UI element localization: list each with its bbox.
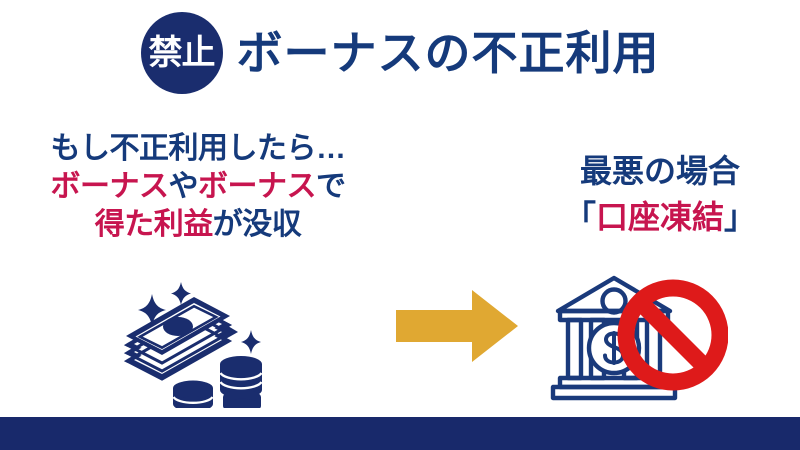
left-line-3: 得た利益が没収: [8, 206, 388, 244]
left-line-2-part-3: ボーナス: [198, 170, 316, 203]
right-line-2-close-bracket: 」: [724, 199, 756, 235]
left-line-3-part-2: が没収: [213, 208, 302, 241]
left-line-1: もし不正利用したら…: [8, 130, 388, 168]
left-line-2-part-2: や: [169, 170, 199, 203]
left-line-3-part-1: 得た利益: [95, 208, 213, 241]
footer-bar: [0, 417, 800, 450]
bank-prohibition-icon: [548, 273, 728, 403]
prohibition-sign-glyph: [626, 288, 720, 382]
cash-stack-icon: [118, 278, 303, 408]
right-arrow-icon: [396, 290, 518, 362]
left-line-2: ボーナスやボーナスで: [8, 168, 388, 206]
right-line-2-keyword: 口座凍結: [596, 199, 724, 235]
slide-canvas: 禁止 ボーナスの不正利用 もし不正利用したら… ボーナスやボーナスで 得た利益が…: [0, 0, 800, 450]
left-line-2-part-1: ボーナス: [51, 170, 169, 203]
prohibition-badge: 禁止: [141, 12, 223, 94]
prohibition-badge-label: 禁止: [149, 36, 215, 70]
right-line-1: 最悪の場合: [520, 148, 800, 194]
right-line-2-open-bracket: 「: [564, 199, 596, 235]
left-text-block: もし不正利用したら… ボーナスやボーナスで 得た利益が没収: [8, 130, 388, 244]
right-text-block: 最悪の場合 「口座凍結」: [520, 148, 800, 241]
title-row: 禁止 ボーナスの不正利用: [0, 10, 800, 96]
right-line-2: 「口座凍結」: [520, 194, 800, 240]
body-area: もし不正利用したら… ボーナスやボーナスで 得た利益が没収: [0, 118, 800, 408]
page-title: ボーナスの不正利用: [237, 30, 660, 76]
left-line-2-part-4: で: [316, 170, 346, 203]
